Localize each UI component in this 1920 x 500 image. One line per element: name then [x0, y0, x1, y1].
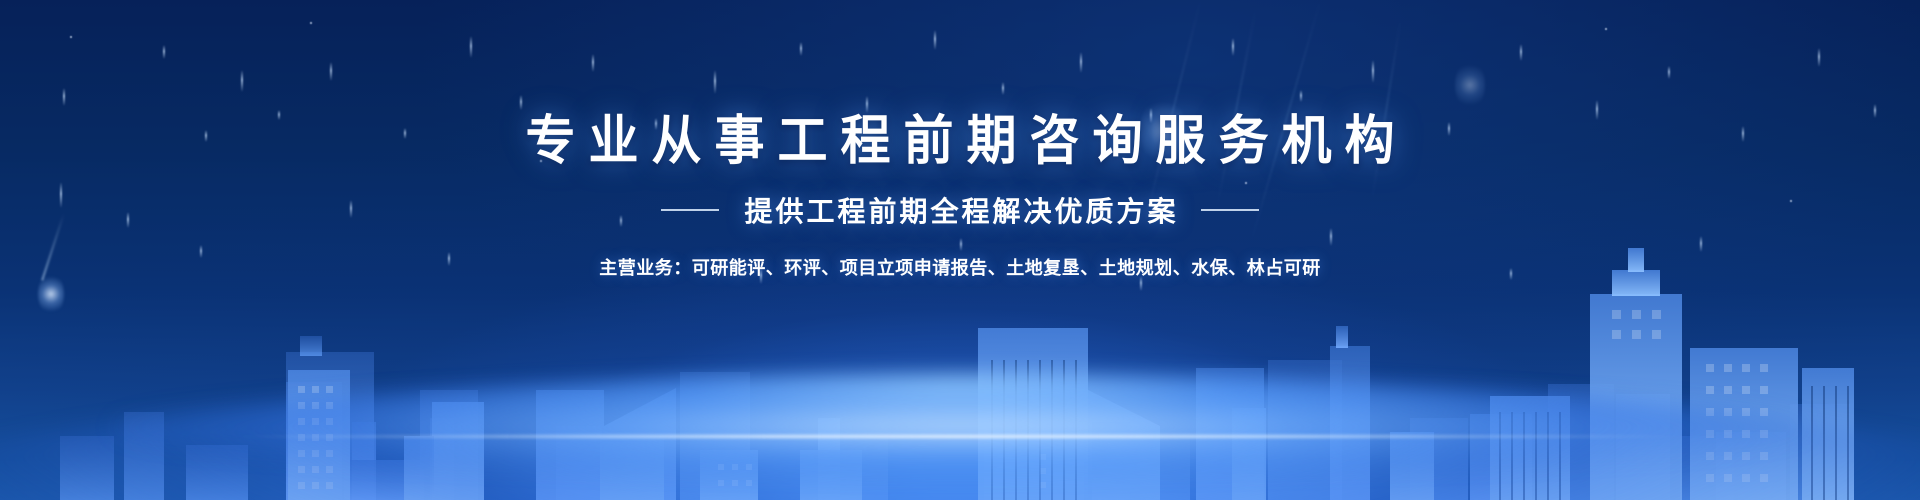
hero-banner: 专业从事工程前期咨询服务机构 提供工程前期全程解决优质方案 主营业务：可研能评、…	[0, 0, 1920, 500]
banner-subtitle: 提供工程前期全程解决优质方案	[741, 190, 1178, 230]
horizon-line	[220, 435, 1700, 438]
banner-services-line: 主营业务：可研能评、环评、项目立项申请报告、土地复垦、土地规划、水保、林占可研	[0, 254, 1920, 280]
horizon-glow	[110, 382, 1810, 472]
banner-content: 专业从事工程前期咨询服务机构 提供工程前期全程解决优质方案 主营业务：可研能评、…	[0, 0, 1920, 280]
banner-title: 专业从事工程前期咨询服务机构	[0, 0, 1920, 167]
rule-right-icon	[1201, 209, 1259, 211]
rule-left-icon	[661, 209, 719, 211]
banner-subtitle-row: 提供工程前期全程解决优质方案	[0, 190, 1920, 230]
